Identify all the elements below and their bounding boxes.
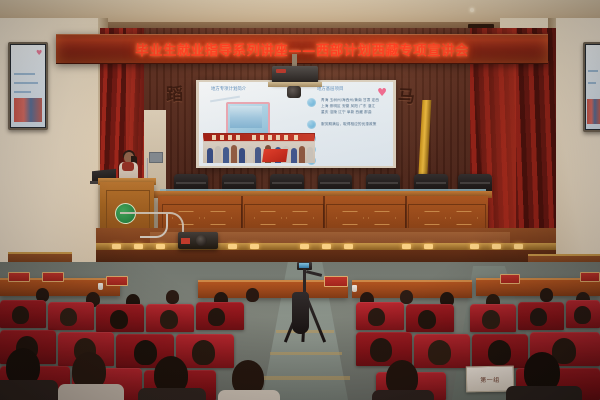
audience-head [418, 310, 436, 329]
audience-head [368, 308, 385, 326]
slide-heading-left: 地方专项计划简介 [211, 86, 246, 92]
desk-name-card [42, 272, 64, 282]
slide-bullet-text: 上海 崇明区 安徽 凤阳 广东 湛江 [321, 104, 375, 109]
audience-shoulders [58, 384, 124, 400]
audience-head [208, 308, 225, 326]
slide-flag-graphic [262, 149, 288, 162]
led-banner: 毕业生就业指导系列讲座——西部计划西藏专项宣讲会 [56, 34, 548, 64]
audience-head [482, 310, 500, 329]
camera-screen-icon [299, 263, 309, 268]
audience-head [370, 338, 392, 362]
audience-shoulders [0, 380, 58, 400]
wall-monitor-left: ♥ [8, 42, 48, 130]
wall-vent-left-icon [149, 152, 163, 163]
heart-icon: ♥ [36, 50, 42, 56]
desk-name-card [106, 276, 128, 286]
paper-cup [352, 285, 357, 292]
wall-decor-char-right: 马 [398, 82, 416, 108]
desk-name-card [8, 272, 30, 282]
lecture-hall-photo: 蹈 马 ♥ 毕业生就业指导系列讲座——西部计划西藏专项宣讲会 地方专项计划简介 … [0, 0, 600, 400]
banner-text: 毕业生就业指导系列讲座——西部计划西藏专项宣讲会 [135, 39, 469, 59]
audience-head [530, 308, 547, 326]
desk-name-card [580, 272, 600, 282]
slide-bullet-text: 重庆 涪陵 辽宁 阜新 西藏 那曲 [321, 110, 372, 115]
audience-head [60, 308, 77, 326]
audience-shoulders [138, 388, 206, 400]
microphone-cable [140, 214, 168, 238]
desk-name-card [500, 274, 520, 284]
slide-bullet-text: 青海 玉树州/海西州/黄南 甘肃 定西 [321, 98, 379, 103]
audience-head [110, 310, 128, 329]
slide-bullet [307, 120, 316, 129]
seat-sign-text: 第一组 [480, 374, 500, 383]
audience-head [540, 288, 553, 302]
audience-head [12, 306, 29, 324]
audience-head [574, 306, 591, 324]
audience-head [192, 340, 215, 365]
ceiling-light-icon [470, 8, 474, 12]
audience-head [160, 310, 178, 329]
monitor-left-slide: ♥ [11, 45, 45, 127]
audience-head [488, 340, 511, 365]
audience-shoulders [506, 386, 582, 400]
slide-photo-banner [204, 134, 314, 141]
projector-indicator-icon [276, 69, 286, 73]
wall-monitor-right [583, 42, 600, 132]
slide-graphic-image [230, 106, 262, 128]
slide-bullet [307, 98, 316, 107]
speaker-badge [181, 238, 190, 244]
audience-head [134, 340, 157, 365]
speaker-cone-icon [196, 235, 207, 246]
audience-shoulders [218, 390, 280, 400]
equipment-bag [292, 292, 309, 334]
paper-cup [98, 283, 103, 290]
audience-head [166, 290, 179, 304]
slide-bullet-text: 服务期满后，取得相应的优惠政策 [321, 122, 376, 127]
wall-decor-char-left: 蹈 [166, 80, 184, 106]
monitor-right-slide [586, 45, 600, 129]
audience-head [246, 288, 259, 302]
monitor-left-photo [14, 98, 43, 123]
projector-lens-icon [287, 86, 301, 98]
audience-head [428, 340, 451, 365]
speaker-scarf [122, 162, 134, 171]
audience-shoulders [372, 390, 434, 400]
monitor-right-photo [587, 99, 600, 124]
desk-name-card [324, 276, 348, 287]
